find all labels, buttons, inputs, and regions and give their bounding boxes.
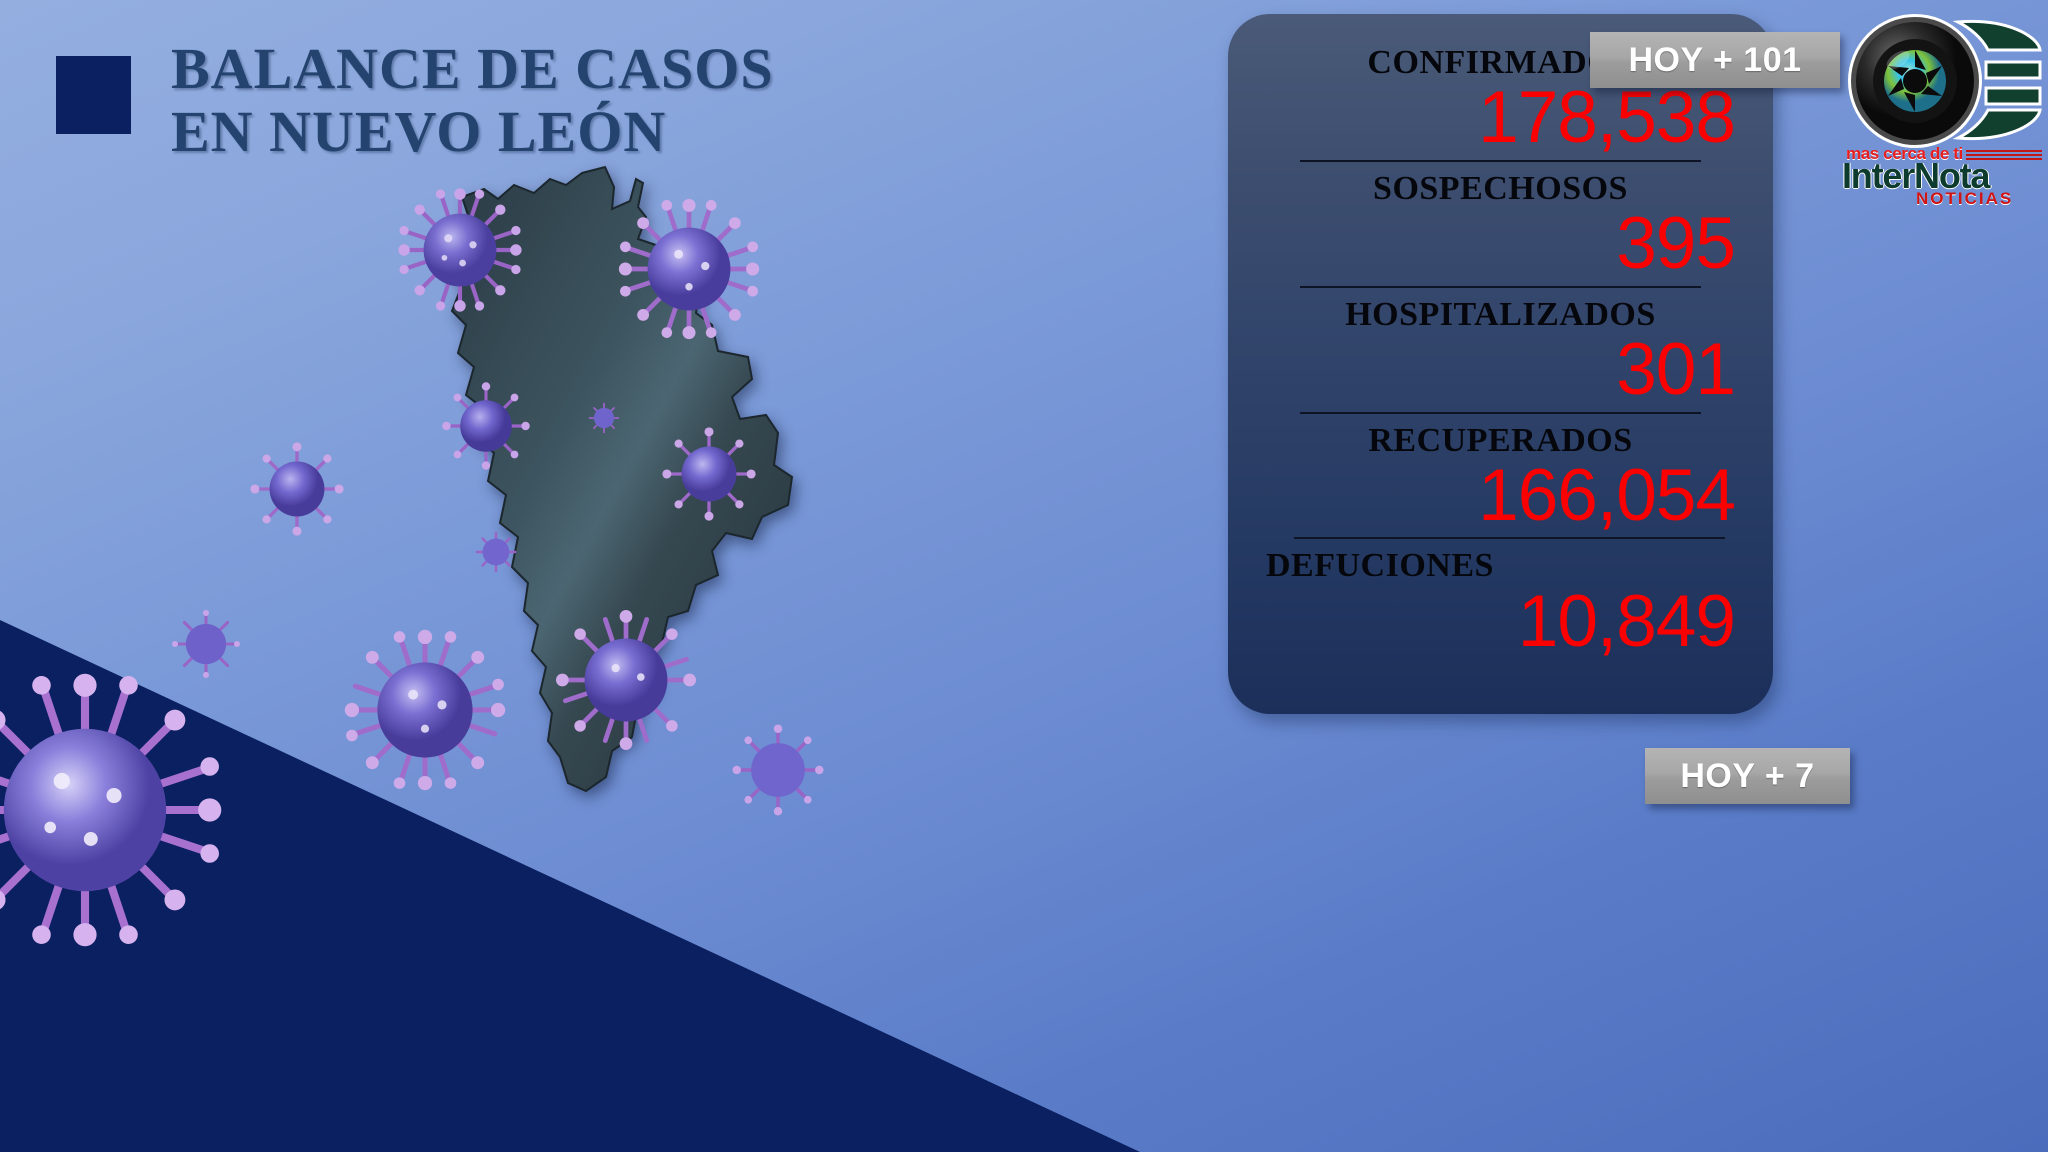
- nuevo-leon-map: [400, 165, 820, 825]
- internota-logo: mas cerca de ti InterNota NOTICIAS: [1838, 8, 2042, 190]
- stat-value-recuperados: 166,054: [1266, 459, 1735, 533]
- stat-value-hospitalizados: 301: [1266, 333, 1735, 407]
- stat-row-recuperados: RECUPERADOS 166,054: [1266, 422, 1735, 534]
- title-accent-square: [56, 56, 131, 134]
- stat-divider: [1294, 537, 1725, 539]
- badge-hoy-defuciones: HOY + 7: [1645, 748, 1850, 804]
- stat-label-sospechosos: SOSPECHOSOS: [1266, 170, 1735, 207]
- stats-panel: CONFIRMADOS 178,538 SOSPECHOSOS 395 HOSP…: [1228, 14, 1773, 714]
- badge-hoy-confirmados: HOY + 101: [1590, 32, 1840, 88]
- stat-row-sospechosos: SOSPECHOSOS 395: [1266, 170, 1735, 282]
- stat-divider: [1300, 412, 1701, 414]
- stat-divider: [1300, 160, 1701, 162]
- logo-subtitle: NOTICIAS: [1916, 189, 2013, 209]
- stat-label-hospitalizados: HOSPITALIZADOS: [1266, 296, 1735, 333]
- stat-label-recuperados: RECUPERADOS: [1266, 422, 1735, 459]
- slide-canvas: BALANCE DE CASOS EN NUEVO LEÓN CONFIRMAD…: [0, 0, 2048, 1152]
- stat-row-defuciones: DEFUCIONES 10,849: [1266, 547, 1735, 659]
- page-title: BALANCE DE CASOS EN NUEVO LEÓN: [56, 38, 774, 163]
- logo-brand-inter: Inter: [1842, 155, 1914, 196]
- stat-divider: [1300, 286, 1701, 288]
- stat-row-hospitalizados: HOSPITALIZADOS 301: [1266, 296, 1735, 408]
- stat-value-defuciones: 10,849: [1266, 585, 1735, 659]
- camera-lens-icon: [1846, 12, 1984, 150]
- stat-value-confirmados: 178,538: [1266, 81, 1735, 155]
- stat-value-sospechosos: 395: [1266, 207, 1735, 281]
- stat-label-defuciones: DEFUCIONES: [1266, 547, 1735, 584]
- page-title-text: BALANCE DE CASOS EN NUEVO LEÓN: [171, 38, 774, 163]
